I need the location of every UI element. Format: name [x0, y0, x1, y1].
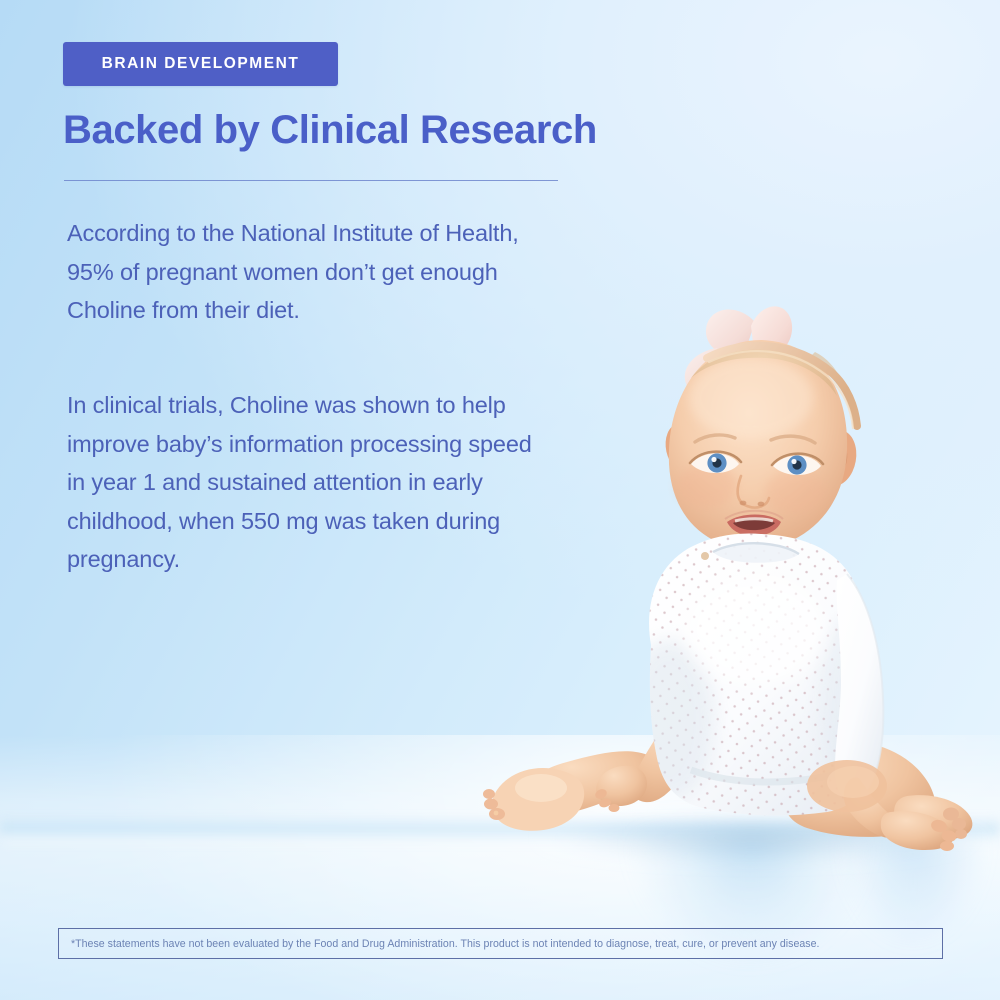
- disclaimer-box: *These statements have not been evaluate…: [58, 928, 943, 959]
- disclaimer-text: *These statements have not been evaluate…: [59, 938, 820, 950]
- infographic-canvas: BRAIN DEVELOPMENT Backed by Clinical Res…: [0, 0, 1000, 1000]
- title-divider: [64, 180, 558, 181]
- body-paragraph-1: According to the National Institute of H…: [67, 214, 542, 330]
- baby-photo: [455, 300, 1000, 860]
- page-title: Backed by Clinical Research: [63, 108, 683, 153]
- badge-label: BRAIN DEVELOPMENT: [102, 55, 300, 73]
- brain-development-badge: BRAIN DEVELOPMENT: [63, 42, 338, 86]
- body-paragraph-2: In clinical trials, Choline was shown to…: [67, 386, 542, 579]
